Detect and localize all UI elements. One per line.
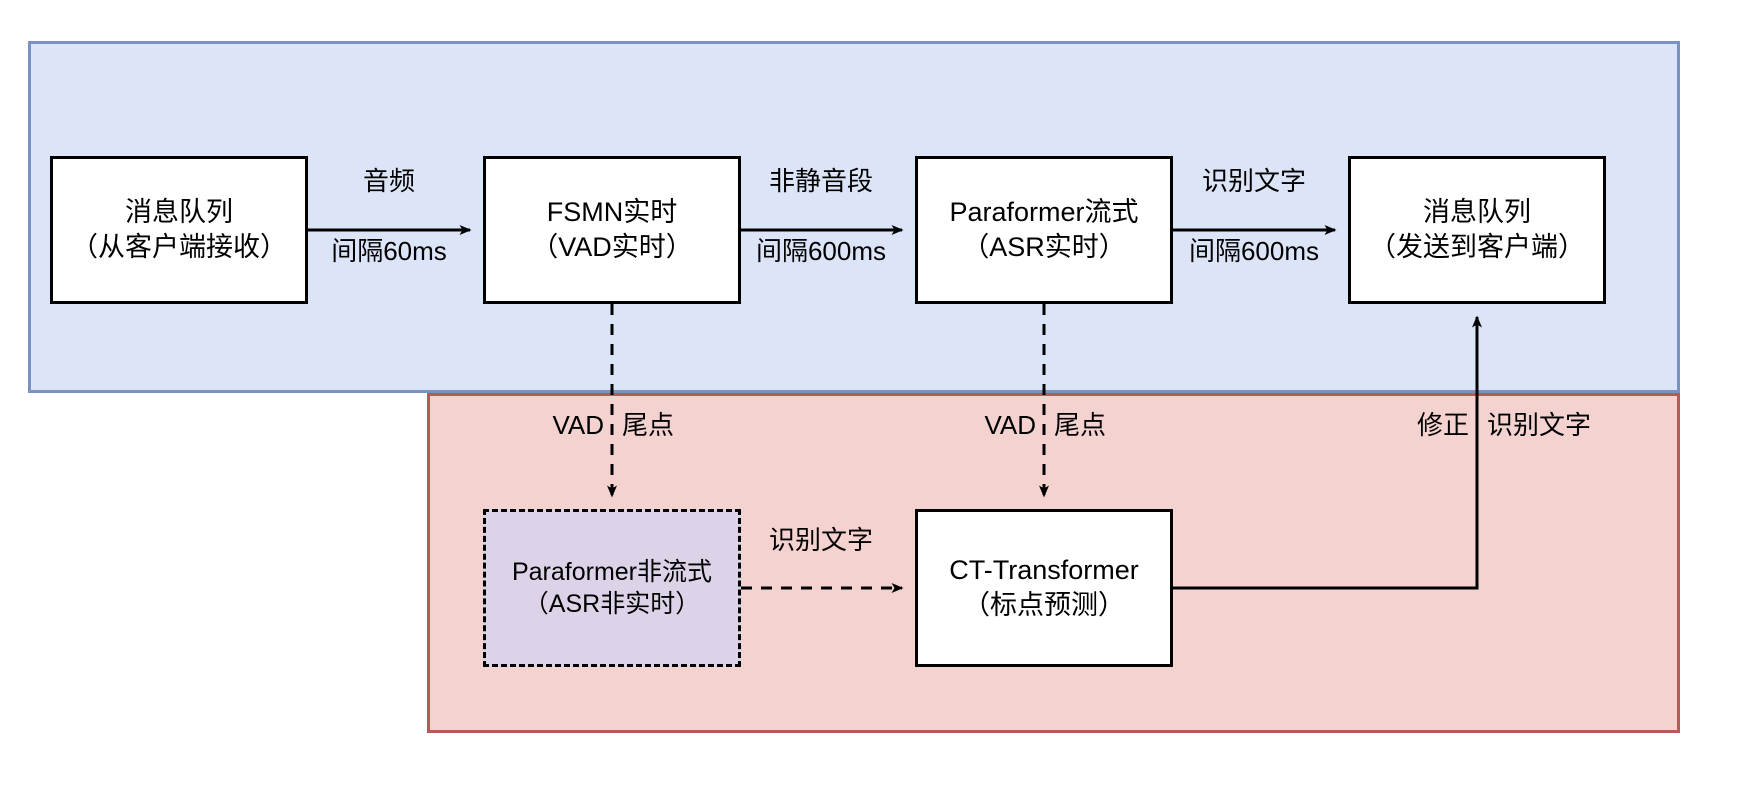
edge-label-recognized-text-b: 识别文字: [769, 525, 873, 556]
edge-label-recognized-text-a: 识别文字: [1202, 166, 1306, 197]
node-line-2: （发送到客户端）: [1369, 230, 1585, 265]
edge-label-interval-600ms-a: 间隔600ms: [756, 236, 886, 267]
edge-label-tail-point-a: 尾点: [622, 410, 674, 441]
edge-ct-transformer-to-mq-out: [1173, 317, 1477, 588]
connector-layer: [0, 0, 1744, 788]
edge-label-correction: 修正: [1417, 410, 1469, 441]
node-line-1: 消息队列: [1423, 195, 1531, 230]
edge-label-interval-600ms-b: 间隔600ms: [1189, 236, 1319, 267]
node-paraformer-streaming[interactable]: Paraformer流式 （ASR实时）: [915, 156, 1173, 304]
node-line-1: Paraformer非流式: [512, 556, 712, 589]
node-line-2: （VAD实时）: [531, 230, 693, 265]
edge-label-vad-a: VAD: [552, 410, 604, 441]
edge-label-vad-b: VAD: [984, 410, 1036, 441]
edge-label-tail-point-b: 尾点: [1054, 410, 1106, 441]
node-line-1: FSMN实时: [547, 195, 678, 230]
node-message-queue-in[interactable]: 消息队列 （从客户端接收）: [50, 156, 308, 304]
node-line-1: 消息队列: [125, 195, 233, 230]
diagram-canvas: 消息队列 （从客户端接收） FSMN实时 （VAD实时） Paraformer流…: [0, 0, 1744, 788]
node-paraformer-offline[interactable]: Paraformer非流式 （ASR非实时）: [483, 509, 741, 667]
node-fsmn-vad[interactable]: FSMN实时 （VAD实时）: [483, 156, 741, 304]
edge-label-recognized-text-c: 识别文字: [1487, 410, 1591, 441]
node-line-2: （ASR非实时）: [524, 588, 700, 621]
node-ct-transformer[interactable]: CT-Transformer （标点预测）: [915, 509, 1173, 667]
edge-label-interval-60ms: 间隔60ms: [331, 236, 447, 267]
node-line-2: （ASR实时）: [962, 230, 1126, 265]
node-line-2: （标点预测）: [963, 588, 1125, 623]
node-line-1: CT-Transformer: [949, 553, 1139, 588]
node-message-queue-out[interactable]: 消息队列 （发送到客户端）: [1348, 156, 1606, 304]
edge-label-non-silence-segment: 非静音段: [769, 166, 873, 197]
edge-label-audio: 音频: [363, 166, 415, 197]
node-line-1: Paraformer流式: [949, 195, 1138, 230]
node-line-2: （从客户端接收）: [71, 230, 287, 265]
